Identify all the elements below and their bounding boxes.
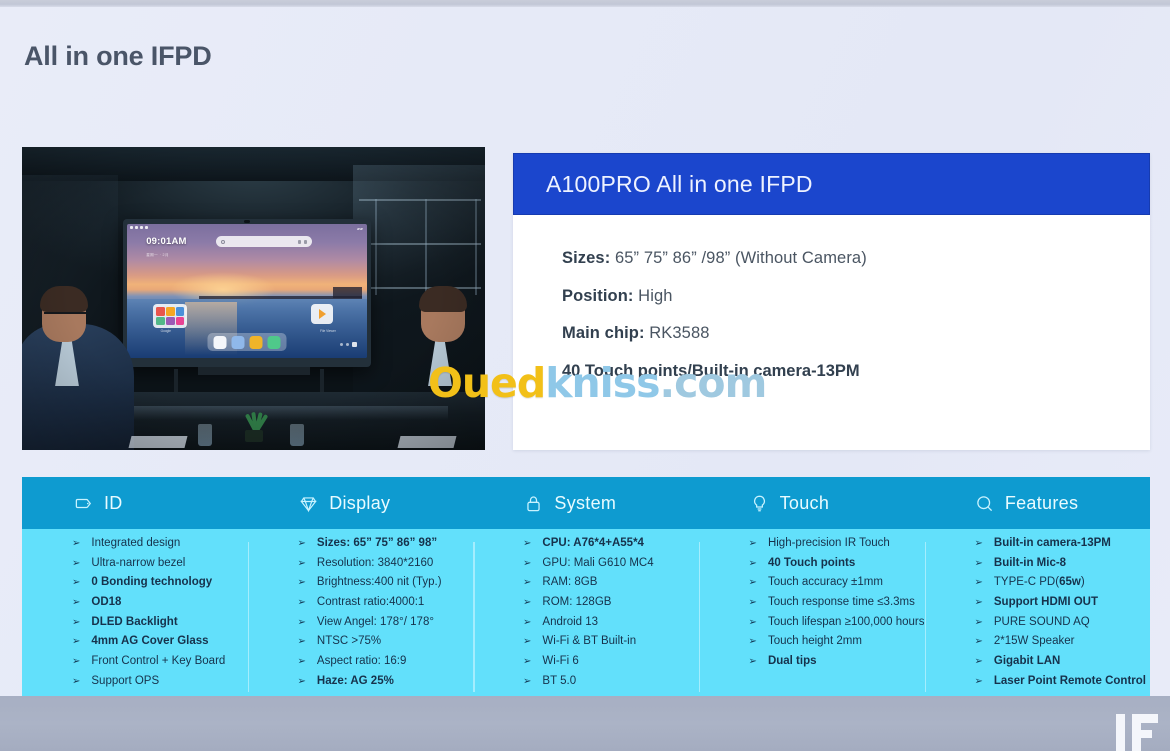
feature-item: ➢TYPE-C PD(65w)	[975, 577, 1151, 589]
feature-item-label: Ultra-narrow bezel	[91, 558, 185, 570]
feature-item-label: Resolution: 3840*2160	[317, 558, 433, 570]
bullet-arrow-icon: ➢	[975, 636, 983, 647]
feature-item-label: 2*15W Speaker	[994, 636, 1075, 648]
bullet-arrow-icon: ➢	[72, 538, 80, 549]
spec-card-header: A100PRO All in one IFPD	[513, 153, 1150, 215]
feature-item-label: Brightness:400 nit (Typ.)	[317, 577, 442, 589]
feature-item-label: 4mm AG Cover Glass	[91, 636, 208, 648]
bullet-arrow-icon: ➢	[298, 597, 306, 608]
bullet-arrow-icon: ➢	[975, 538, 983, 549]
spec-label-position: Position:	[562, 287, 633, 305]
feature-column-touch: ➢High-precision IR Touch➢40 Touch points…	[699, 538, 925, 703]
spec-row-sizes: Sizes: 65” 75” 86” /98” (Without Camera)	[562, 249, 1150, 268]
feature-item-label: Wi-Fi 6	[542, 656, 578, 668]
feature-item: ➢High-precision IR Touch	[749, 538, 925, 550]
spec-highlight: 40 Touch points/Built-in camera-13PM	[562, 362, 1150, 381]
feature-table-body: ➢Integrated design➢Ultra-narrow bezel➢0 …	[22, 529, 1150, 703]
feature-item: ➢Touch lifespan ≥100,000 hours	[749, 617, 925, 629]
feature-item: ➢Touch accuracy ±1mm	[749, 577, 925, 589]
feature-item: ➢RAM: 8GB	[523, 577, 699, 589]
bullet-arrow-icon: ➢	[72, 656, 80, 667]
feature-column-title: Touch	[780, 493, 830, 514]
feature-item: ➢NTSC >75%	[298, 636, 474, 648]
feature-item-label: Wi-Fi & BT Built-in	[542, 636, 636, 648]
feature-item: ➢Gigabit LAN	[975, 656, 1151, 668]
feature-item-label: Integrated design	[91, 538, 180, 550]
lock-icon	[524, 494, 543, 513]
spec-value-position: High	[638, 287, 672, 305]
bullet-arrow-icon: ➢	[523, 617, 531, 628]
feature-item: ➢Dual tips	[749, 656, 925, 668]
tag-icon	[74, 494, 93, 513]
feature-item-label: Haze: AG 25%	[317, 676, 394, 688]
feature-item-label: Built-in Mic-8	[994, 558, 1066, 570]
bullet-arrow-icon: ➢	[72, 558, 80, 569]
bullet-arrow-icon: ➢	[749, 597, 757, 608]
photo-vignette	[22, 147, 485, 450]
feature-item-label: Laser Point Remote Control	[994, 676, 1146, 688]
feature-item-label: Touch lifespan ≥100,000 hours	[768, 617, 925, 629]
feature-item: ➢Wi-Fi & BT Built-in	[523, 636, 699, 648]
spec-label-sizes: Sizes:	[562, 249, 610, 267]
bullet-arrow-icon: ➢	[298, 577, 306, 588]
feature-item-label: 40 Touch points	[768, 558, 855, 570]
bullet-arrow-icon: ➢	[523, 577, 531, 588]
feature-item: ➢Touch height 2mm	[749, 636, 925, 648]
spec-row-position: Position: High	[562, 287, 1150, 306]
bullet-arrow-icon: ➢	[523, 597, 531, 608]
product-photo: ▰▰ 09:01AM 星期一 · 2月 Google File Viewer	[22, 147, 485, 450]
feature-item-label: Contrast ratio:4000:1	[317, 597, 424, 609]
spec-card-title: A100PRO All in one IFPD	[546, 171, 813, 198]
feature-column-header-display[interactable]: Display	[249, 477, 474, 529]
feature-column-header-system[interactable]: System	[474, 477, 699, 529]
slide-canvas: All in one IFPD ▰▰ 09:01AM	[0, 7, 1170, 696]
bullet-arrow-icon: ➢	[72, 617, 80, 628]
feature-item-label: 0 Bonding technology	[91, 577, 212, 589]
feature-item-label: Touch response time ≤3.3ms	[768, 597, 915, 609]
spec-card-body: Sizes: 65” 75” 86” /98” (Without Camera)…	[513, 215, 1150, 381]
bullet-arrow-icon: ➢	[298, 558, 306, 569]
bullet-arrow-icon: ➢	[749, 656, 757, 667]
if-brand-logo	[1102, 706, 1160, 751]
feature-item: ➢Front Control + Key Board	[72, 656, 248, 668]
feature-item: ➢Wi-Fi 6	[523, 656, 699, 668]
feature-item-label: Touch accuracy ±1mm	[768, 577, 883, 589]
bullet-arrow-icon: ➢	[72, 636, 80, 647]
diamond-icon	[299, 494, 318, 513]
feature-item-label: PURE SOUND AQ	[994, 617, 1090, 629]
bullet-arrow-icon: ➢	[72, 597, 80, 608]
feature-column-title: Features	[1005, 493, 1078, 514]
bullet-arrow-icon: ➢	[749, 558, 757, 569]
feature-item-label: Front Control + Key Board	[91, 656, 225, 668]
feature-item: ➢Ultra-narrow bezel	[72, 558, 248, 570]
bullet-arrow-icon: ➢	[523, 558, 531, 569]
spec-value-main-chip: RK3588	[649, 324, 709, 342]
feature-item: ➢Contrast ratio:4000:1	[298, 597, 474, 609]
bullet-arrow-icon: ➢	[298, 538, 306, 549]
feature-item: ➢CPU: A76*4+A55*4	[523, 538, 699, 550]
feature-item: ➢Haze: AG 25%	[298, 676, 474, 688]
feature-item: ➢Support OPS	[72, 676, 248, 688]
window-top-band	[0, 0, 1170, 7]
feature-item-label: Sizes: 65” 75” 86” 98”	[317, 538, 437, 550]
feature-item-label: TYPE-C PD(65w)	[994, 577, 1085, 589]
feature-item: ➢ROM: 128GB	[523, 597, 699, 609]
feature-item: ➢Support HDMI OUT	[975, 597, 1151, 609]
feature-item-label: Dual tips	[768, 656, 817, 668]
feature-item: ➢Sizes: 65” 75” 86” 98”	[298, 538, 474, 550]
feature-column-system: ➢CPU: A76*4+A55*4➢GPU: Mali G610 MC4➢RAM…	[473, 538, 699, 703]
feature-item-label: Support HDMI OUT	[994, 597, 1098, 609]
feature-item: ➢Laser Point Remote Control	[975, 676, 1151, 688]
feature-item: ➢DLED Backlight	[72, 617, 248, 629]
feature-item: ➢Resolution: 3840*2160	[298, 558, 474, 570]
bullet-arrow-icon: ➢	[749, 577, 757, 588]
bullet-arrow-icon: ➢	[975, 656, 983, 667]
feature-item-label: GPU: Mali G610 MC4	[542, 558, 653, 570]
feature-item-label: BT 5.0	[542, 676, 576, 688]
feature-item: ➢View Angel: 178°/ 178°	[298, 617, 474, 629]
feature-item: ➢Built-in Mic-8	[975, 558, 1151, 570]
bullet-arrow-icon: ➢	[523, 656, 531, 667]
feature-table: ID Display System Touch	[22, 477, 1150, 703]
feature-item: ➢PURE SOUND AQ	[975, 617, 1151, 629]
feature-item: ➢Brightness:400 nit (Typ.)	[298, 577, 474, 589]
bullet-arrow-icon: ➢	[298, 676, 306, 687]
feature-item: ➢Built-in camera-13PM	[975, 538, 1151, 550]
feature-item: ➢Aspect ratio: 16:9	[298, 656, 474, 668]
bottom-letterbox	[0, 696, 1170, 751]
bullet-arrow-icon: ➢	[975, 577, 983, 588]
spec-row-main-chip: Main chip: RK3588	[562, 324, 1150, 343]
feature-column-title: System	[554, 493, 616, 514]
feature-column-title: ID	[104, 493, 123, 514]
feature-column-title: Display	[329, 493, 390, 514]
page-title: All in one IFPD	[24, 41, 212, 72]
feature-item-label: OD18	[91, 597, 121, 609]
feature-item: ➢4mm AG Cover Glass	[72, 636, 248, 648]
feature-item: ➢Android 13	[523, 617, 699, 629]
feature-column-header-id[interactable]: ID	[22, 477, 249, 529]
bullet-arrow-icon: ➢	[523, 636, 531, 647]
bullet-arrow-icon: ➢	[749, 617, 757, 628]
bullet-arrow-icon: ➢	[975, 597, 983, 608]
bullet-arrow-icon: ➢	[523, 676, 531, 687]
bullet-arrow-icon: ➢	[298, 656, 306, 667]
feature-item-label: Support OPS	[91, 676, 159, 688]
feature-item-label: RAM: 8GB	[542, 577, 597, 589]
feature-item-label: Gigabit LAN	[994, 656, 1060, 668]
feature-column-header-features[interactable]: Features	[925, 477, 1150, 529]
feature-item-label: Touch height 2mm	[768, 636, 862, 648]
magnifier-icon	[975, 494, 994, 513]
bullet-arrow-icon: ➢	[975, 617, 983, 628]
feature-item-label: View Angel: 178°/ 178°	[317, 617, 434, 629]
feature-item-label: NTSC >75%	[317, 636, 381, 648]
feature-table-header: ID Display System Touch	[22, 477, 1150, 529]
feature-item: ➢Touch response time ≤3.3ms	[749, 597, 925, 609]
feature-item: ➢OD18	[72, 597, 248, 609]
feature-column-features: ➢Built-in camera-13PM➢Built-in Mic-8➢TYP…	[925, 538, 1151, 703]
feature-column-id: ➢Integrated design➢Ultra-narrow bezel➢0 …	[22, 538, 248, 703]
feature-item-label: ROM: 128GB	[542, 597, 611, 609]
spec-card: A100PRO All in one IFPD Sizes: 65” 75” 8…	[513, 153, 1150, 450]
feature-item: ➢Integrated design	[72, 538, 248, 550]
feature-item-label: Built-in camera-13PM	[994, 538, 1111, 550]
feature-item: ➢40 Touch points	[749, 558, 925, 570]
feature-item: ➢2*15W Speaker	[975, 636, 1151, 648]
feature-item: ➢GPU: Mali G610 MC4	[523, 558, 699, 570]
feature-column-display: ➢Sizes: 65” 75” 86” 98”➢Resolution: 3840…	[248, 538, 474, 703]
bullet-arrow-icon: ➢	[975, 676, 983, 687]
feature-item-label: Aspect ratio: 16:9	[317, 656, 407, 668]
bullet-arrow-icon: ➢	[298, 617, 306, 628]
feature-item-label: DLED Backlight	[91, 617, 177, 629]
bullet-arrow-icon: ➢	[749, 538, 757, 549]
feature-item: ➢BT 5.0	[523, 676, 699, 688]
bullet-arrow-icon: ➢	[72, 577, 80, 588]
bullet-arrow-icon: ➢	[72, 676, 80, 687]
lightbulb-icon	[750, 494, 769, 513]
feature-item-label: CPU: A76*4+A55*4	[542, 538, 644, 550]
feature-column-header-touch[interactable]: Touch	[700, 477, 925, 529]
spec-label-main-chip: Main chip:	[562, 324, 645, 342]
feature-item-label: High-precision IR Touch	[768, 538, 890, 550]
bullet-arrow-icon: ➢	[975, 558, 983, 569]
feature-item-label: Android 13	[542, 617, 598, 629]
bullet-arrow-icon: ➢	[523, 538, 531, 549]
bullet-arrow-icon: ➢	[749, 636, 757, 647]
feature-item: ➢0 Bonding technology	[72, 577, 248, 589]
bullet-arrow-icon: ➢	[298, 636, 306, 647]
spec-value-sizes: 65” 75” 86” /98” (Without Camera)	[615, 249, 867, 267]
